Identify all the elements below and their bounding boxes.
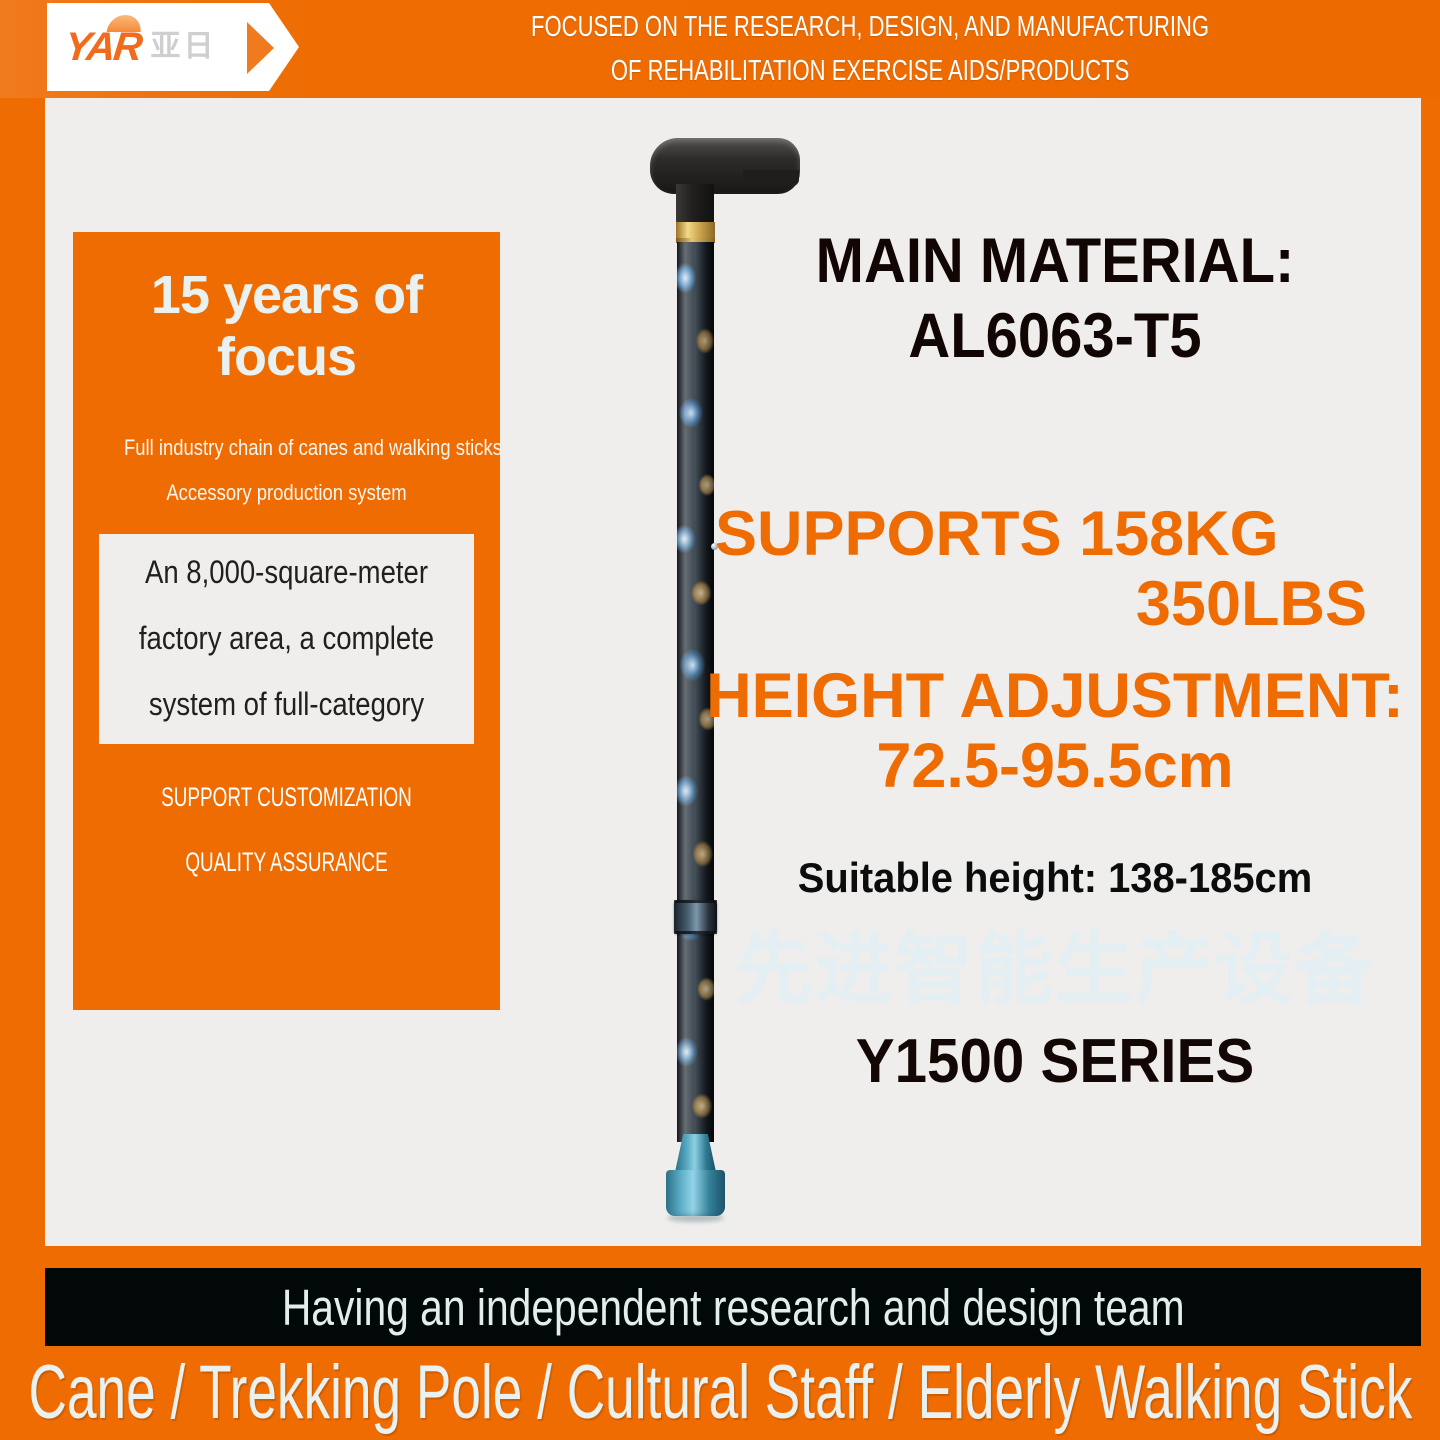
spec-panel: MAIN MATERIAL: AL6063-T5 SUPPORTS 158KG … bbox=[705, 228, 1405, 1097]
height-adjust-label: HEIGHT ADJUSTMENT: bbox=[705, 662, 1405, 730]
cane-rubber-tip bbox=[666, 1170, 725, 1216]
promo-footer-customization: SUPPORT CUSTOMIZATION bbox=[151, 784, 422, 811]
sun-arc-icon bbox=[107, 15, 143, 32]
supports-lbs: 350LBS bbox=[705, 570, 1405, 638]
promo-panel: 15 years of focus Full industry chain of… bbox=[73, 232, 500, 1010]
promo-title-line2: focus bbox=[93, 326, 480, 388]
promo-footer-quality: QUALITY ASSURANCE bbox=[151, 849, 422, 876]
supports-kg: SUPPORTS 158KG bbox=[705, 500, 1405, 568]
promo-subtitle-line2: Accessory production system bbox=[124, 481, 449, 504]
promo-title: 15 years of focus bbox=[93, 264, 480, 388]
height-adjust-value: 72.5-95.5cm bbox=[705, 732, 1405, 800]
factory-info-line3: system of full-category bbox=[136, 688, 438, 720]
factory-info-box: An 8,000-square-meter factory area, a co… bbox=[99, 534, 474, 744]
yar-logo-icon: YAR bbox=[63, 27, 143, 67]
watermark-text: 先进智能生产设备 bbox=[705, 930, 1405, 1008]
footer-orange-strip-text: Cane / Trekking Pole / Cultural Staff / … bbox=[28, 1355, 1412, 1431]
footer-black-bar-text: Having an independent research and desig… bbox=[282, 1282, 1185, 1333]
footer-orange-strip: Cane / Trekking Pole / Cultural Staff / … bbox=[0, 1346, 1440, 1440]
footer-black-bar: Having an independent research and desig… bbox=[45, 1268, 1421, 1346]
material-value: AL6063-T5 bbox=[733, 303, 1377, 370]
handle-finger-grooves bbox=[743, 170, 801, 192]
brand-logo[interactable]: YAR 亚日 bbox=[47, 3, 269, 91]
factory-info-line1: An 8,000-square-meter bbox=[136, 556, 438, 588]
suitable-height: Suitable height: 138-185cm bbox=[723, 854, 1388, 902]
content-canvas: 15 years of focus Full industry chain of… bbox=[45, 98, 1421, 1246]
factory-info-line2: factory area, a complete bbox=[136, 622, 438, 654]
logo-arrow-orange-icon bbox=[247, 22, 274, 74]
cane-handle-neck bbox=[676, 184, 714, 226]
header-tagline-line2: OF REHABILITATION EXERCISE AIDS/PRODUCTS bbox=[611, 49, 1129, 93]
header-tagline: FOCUSED ON THE RESEARCH, DESIGN, AND MAN… bbox=[300, 0, 1440, 98]
logo-chinese-name: 亚日 bbox=[150, 32, 216, 62]
promo-title-line1: 15 years of bbox=[93, 264, 480, 326]
series-label: Y1500 SERIES bbox=[726, 1026, 1384, 1097]
page-header: YAR 亚日 FOCUSED ON THE RESEARCH, DESIGN, … bbox=[0, 0, 1440, 98]
header-tagline-line1: FOCUSED ON THE RESEARCH, DESIGN, AND MAN… bbox=[531, 5, 1209, 49]
material-label: MAIN MATERIAL: bbox=[733, 228, 1377, 295]
promo-subtitle-line1: Full industry chain of canes and walking… bbox=[124, 436, 449, 459]
cane-tip-shadow bbox=[667, 1214, 724, 1222]
